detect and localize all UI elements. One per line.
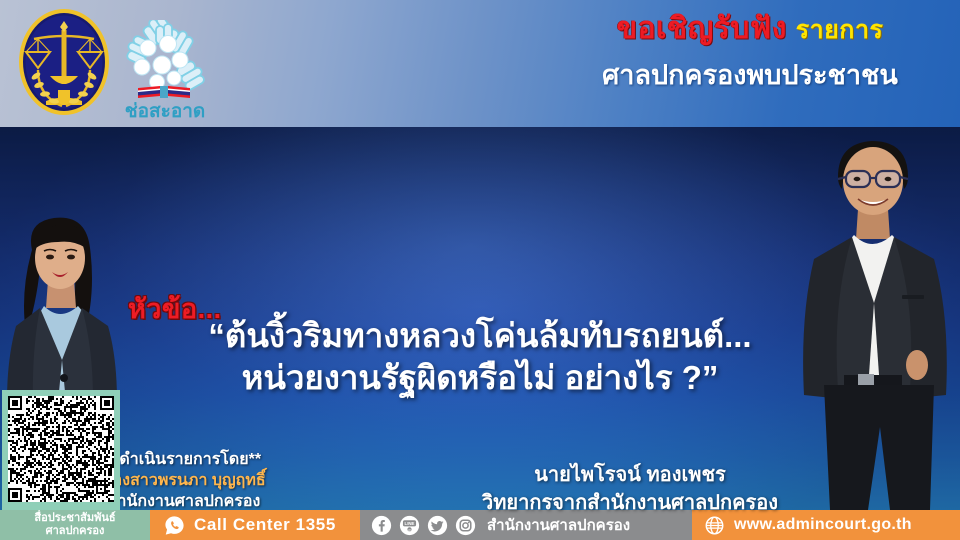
media-line-2: ศาลปกครอง xyxy=(46,525,105,538)
broadcast-announcement-poster: ช่อสะอาด ขอเชิญรับฟัง รายการ ศาลปกครองพบ… xyxy=(0,0,960,540)
twitter-icon[interactable] xyxy=(427,515,448,536)
website-url: www.admincourt.go.th xyxy=(734,516,912,534)
guest-credits: นายไพโรจน์ ทองเพชร วิทยากรจากสำนักงานศาล… xyxy=(450,461,810,517)
call-center-text: Call Center 1355 xyxy=(194,515,336,535)
footer-media-label: สื่อประชาสัมพันธ์ ศาลปกครอง xyxy=(0,510,150,540)
instagram-icon[interactable] xyxy=(455,515,476,536)
chor-sa-ard-logo: ช่อสะอาด xyxy=(112,20,218,124)
program-word: รายการ xyxy=(796,16,884,44)
guest-name: นายไพโรจน์ ทองเพชร xyxy=(450,461,810,489)
program-name: ศาลปกครองพบประชาชน xyxy=(602,53,898,97)
globe-icon xyxy=(704,515,725,536)
media-line-1: สื่อประชาสัมพันธ์ xyxy=(34,512,115,525)
qr-code-panel[interactable] xyxy=(2,390,120,510)
topic-line-2: หน่วยงานรัฐผิดหรือไม่ อย่างไร ?” xyxy=(120,357,840,399)
line-icon[interactable]: LINE @ xyxy=(399,515,420,536)
svg-text:@: @ xyxy=(408,527,411,531)
qr-code[interactable] xyxy=(8,396,114,502)
svg-text:LINE: LINE xyxy=(405,521,415,526)
scales-of-justice-emblem xyxy=(14,6,114,118)
main-stage: หัวข้อ... “ต้นงิ้วริมทางหลวงโค่นล้มทับรถ… xyxy=(0,127,960,510)
invite-text: ขอเชิญรับฟัง xyxy=(617,12,787,45)
chor-sa-ard-caption: ช่อสะอาด xyxy=(125,101,206,122)
guest-role: วิทยากรจากสำนักงานศาลปกครอง xyxy=(450,489,810,517)
topic-quote: “ต้นงิ้วริมทางหลวงโค่นล้มทับรถยนต์... หน… xyxy=(120,315,840,399)
phone-icon xyxy=(164,515,185,536)
topic-line-1: “ต้นงิ้วริมทางหลวงโค่นล้มทับรถยนต์... xyxy=(208,317,751,354)
header-invite-line: ขอเชิญรับฟัง รายการ xyxy=(617,6,884,53)
facebook-icon[interactable] xyxy=(371,515,392,536)
header-text-group: ขอเชิญรับฟัง รายการ ศาลปกครองพบประชาชน xyxy=(540,6,960,118)
call-center-block[interactable]: Call Center 1355 xyxy=(150,510,360,540)
header-band: ช่อสะอาด ขอเชิญรับฟัง รายการ ศาลปกครองพบ… xyxy=(0,0,960,127)
